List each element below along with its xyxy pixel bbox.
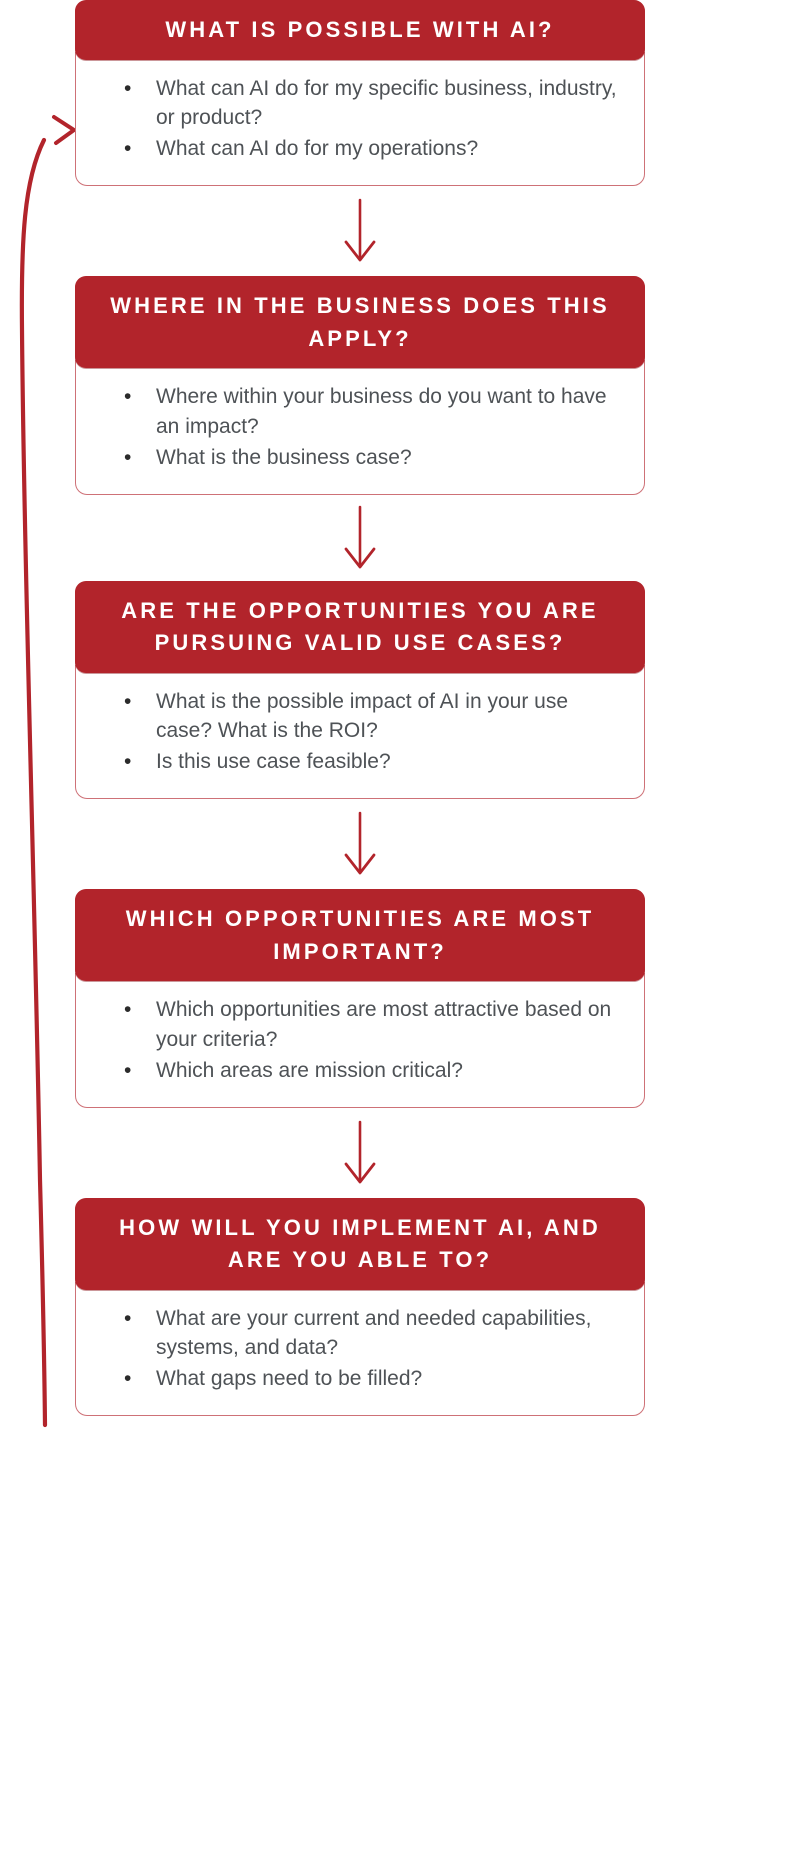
list-item: • What can AI do for my operations?	[94, 134, 626, 164]
list-item: • What is the possible impact of AI in y…	[94, 687, 626, 747]
bullet-text: What can AI do for my operations?	[156, 134, 626, 164]
card-step-5: HOW WILL YOU IMPLEMENT AI, AND ARE YOU A…	[75, 1198, 645, 1417]
bullet-dot-icon: •	[94, 382, 156, 412]
arrow-down-icon	[330, 186, 390, 276]
connector-4-5	[75, 1108, 645, 1198]
bullet-dot-icon: •	[94, 443, 156, 473]
bullet-text: Where within your business do you want t…	[156, 382, 626, 442]
bullet-dot-icon: •	[94, 1056, 156, 1086]
bullet-list-step-5: • What are your current and needed capab…	[94, 1304, 626, 1394]
arrow-down-icon	[330, 493, 390, 583]
card-header-step-3: ARE THE OPPORTUNITIES YOU ARE PURSUING V…	[75, 581, 645, 673]
card-header-step-2: WHERE IN THE BUSINESS DOES THIS APPLY?	[75, 276, 645, 368]
bullet-text: Which areas are mission critical?	[156, 1056, 626, 1086]
bullet-text: What are your current and needed capabil…	[156, 1304, 626, 1364]
card-stack: WHAT IS POSSIBLE WITH AI? • What can AI …	[75, 0, 645, 1416]
card-step-2: WHERE IN THE BUSINESS DOES THIS APPLY? •…	[75, 276, 645, 495]
bullet-text: What is the possible impact of AI in you…	[156, 687, 626, 747]
card-step-4: WHICH OPPORTUNITIES ARE MOST IMPORTANT? …	[75, 889, 645, 1108]
list-item: • What gaps need to be filled?	[94, 1364, 626, 1394]
connector-1-2	[75, 186, 645, 276]
bullet-text: What can AI do for my specific business,…	[156, 74, 626, 134]
card-step-3: ARE THE OPPORTUNITIES YOU ARE PURSUING V…	[75, 581, 645, 800]
list-item: • Which opportunities are most attractiv…	[94, 995, 626, 1055]
list-item: • What are your current and needed capab…	[94, 1304, 626, 1364]
card-body-step-4: • Which opportunities are most attractiv…	[75, 973, 645, 1107]
card-header-step-5: HOW WILL YOU IMPLEMENT AI, AND ARE YOU A…	[75, 1198, 645, 1290]
card-header-step-1: WHAT IS POSSIBLE WITH AI?	[75, 0, 645, 60]
list-item: • What is the business case?	[94, 443, 626, 473]
bullet-text: What is the business case?	[156, 443, 626, 473]
connector-2-3	[75, 495, 645, 581]
feedback-loop-arrowhead-icon	[54, 117, 74, 143]
bullet-list-step-4: • Which opportunities are most attractiv…	[94, 995, 626, 1085]
bullet-dot-icon: •	[94, 1364, 156, 1394]
bullet-dot-icon: •	[94, 747, 156, 777]
list-item: • Where within your business do you want…	[94, 382, 626, 442]
bullet-dot-icon: •	[94, 74, 156, 104]
bullet-text: Which opportunities are most attractive …	[156, 995, 626, 1055]
list-item: • Is this use case feasible?	[94, 747, 626, 777]
bullet-dot-icon: •	[94, 134, 156, 164]
list-item: • What can AI do for my specific busines…	[94, 74, 626, 134]
bullet-dot-icon: •	[94, 1304, 156, 1334]
bullet-list-step-2: • Where within your business do you want…	[94, 382, 626, 472]
card-body-step-5: • What are your current and needed capab…	[75, 1282, 645, 1416]
bullet-text: What gaps need to be filled?	[156, 1364, 626, 1394]
bullet-text: Is this use case feasible?	[156, 747, 626, 777]
card-body-step-2: • Where within your business do you want…	[75, 360, 645, 494]
arrow-down-icon	[330, 799, 390, 889]
list-item: • Which areas are mission critical?	[94, 1056, 626, 1086]
bullet-list-step-3: • What is the possible impact of AI in y…	[94, 687, 626, 777]
arrow-down-icon	[330, 1108, 390, 1198]
feedback-loop-path	[22, 140, 45, 1425]
card-header-step-4: WHICH OPPORTUNITIES ARE MOST IMPORTANT?	[75, 889, 645, 981]
bullet-dot-icon: •	[94, 687, 156, 717]
flowchart: WHAT IS POSSIBLE WITH AI? • What can AI …	[0, 0, 800, 1859]
bullet-dot-icon: •	[94, 995, 156, 1025]
card-body-step-3: • What is the possible impact of AI in y…	[75, 665, 645, 799]
card-step-1: WHAT IS POSSIBLE WITH AI? • What can AI …	[75, 0, 645, 186]
connector-3-4	[75, 799, 645, 889]
card-body-step-1: • What can AI do for my specific busines…	[75, 52, 645, 186]
bullet-list-step-1: • What can AI do for my specific busines…	[94, 74, 626, 164]
